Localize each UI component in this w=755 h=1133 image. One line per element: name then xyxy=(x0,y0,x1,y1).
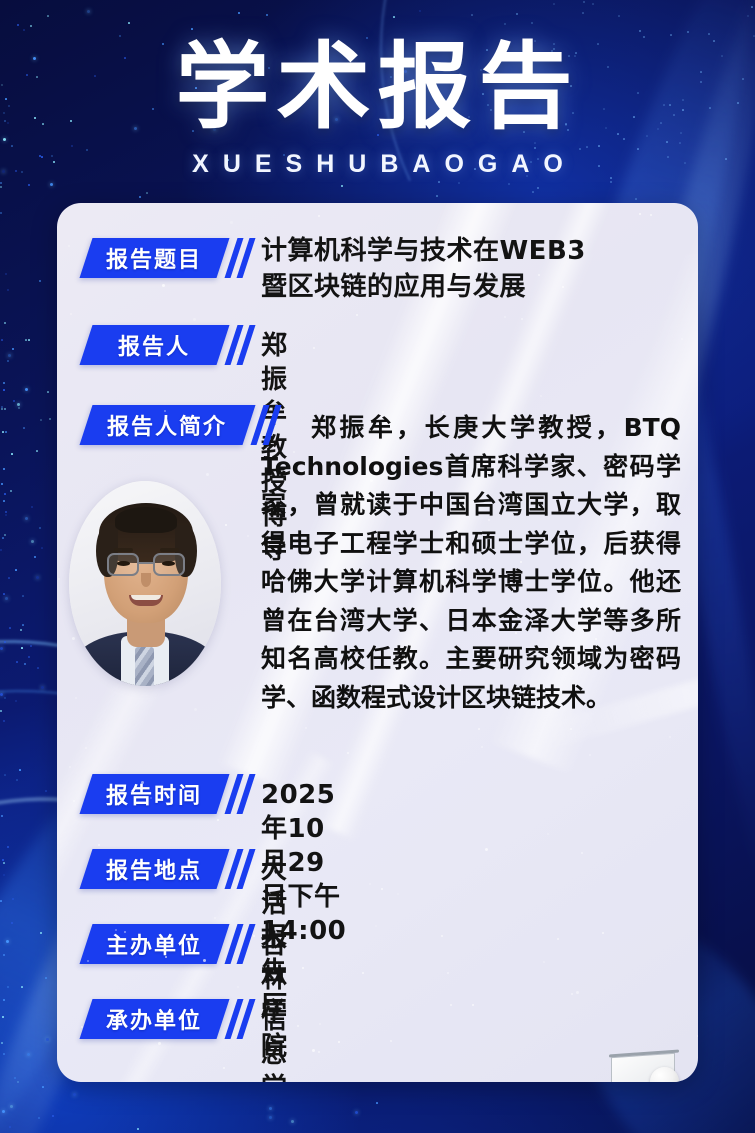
row-label-bio-tag: 报告人简介 xyxy=(80,405,256,445)
row-label-topic-tag: 报告题目 xyxy=(80,238,230,278)
row-label-speaker-tag: 报告人 xyxy=(80,325,230,365)
audience-illustration xyxy=(507,1041,698,1082)
poster-subtitle-pinyin: XUESHUBAOGAO xyxy=(0,150,755,179)
row-value-co-organizer: 信息学部 xyxy=(261,1003,288,1082)
row-label-organizer-tag: 主办单位 xyxy=(80,924,230,964)
poster-header: 学术报告 XUESHUBAOGAO xyxy=(0,0,755,203)
speaker-portrait xyxy=(69,481,221,686)
row-label-datetime: 报告时间 xyxy=(106,778,202,810)
row-label-bio: 报告人简介 xyxy=(107,409,227,441)
row-label-speaker: 报告人 xyxy=(118,329,190,361)
speaker-bio-text: 郑振牟，长庚大学教授，BTQ Technologies首席科学家、密码学家，曾就… xyxy=(261,409,681,717)
row-value-topic: 计算机科学与技术在WEB3 暨区块链的应用与发展 xyxy=(261,233,681,305)
poster-title: 学术报告 xyxy=(0,36,755,140)
row-label-co-organizer: 承办单位 xyxy=(106,1003,202,1035)
row-label-venue-tag: 报告地点 xyxy=(80,849,230,889)
row-label-venue: 报告地点 xyxy=(106,853,202,885)
row-label-co-organizer-tag: 承办单位 xyxy=(80,999,230,1039)
poster-root: 学术报告 XUESHUBAOGAO 报告题目 计算机科学与技术在WEB3 暨区块… xyxy=(0,0,755,1133)
row-label-organizer: 主办单位 xyxy=(106,928,202,960)
row-label-datetime-tag: 报告时间 xyxy=(80,774,230,814)
row-label-topic: 报告题目 xyxy=(106,242,202,274)
